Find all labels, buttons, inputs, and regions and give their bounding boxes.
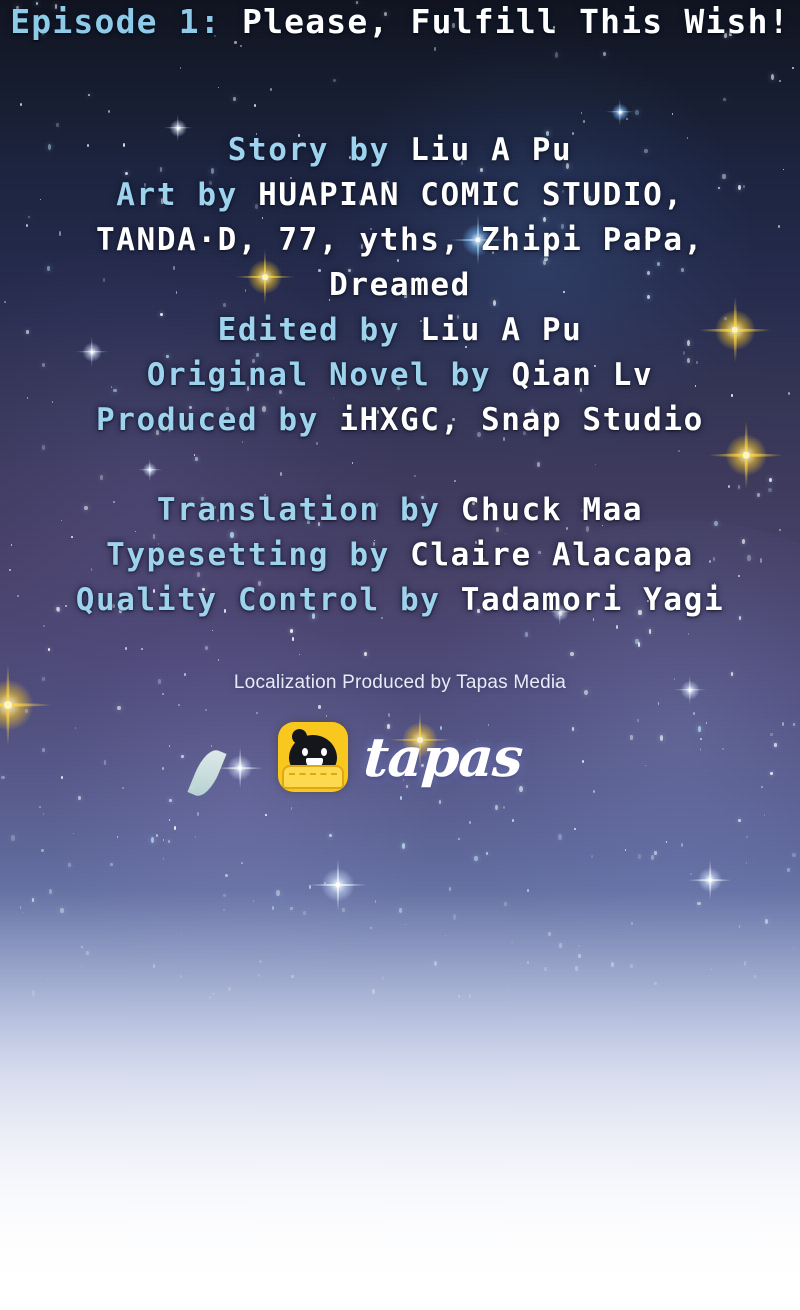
sparkle-core [619, 111, 622, 114]
credit-role: Edited by [218, 312, 421, 348]
star-dot [504, 902, 507, 907]
star-dot [507, 989, 509, 991]
star-dot [110, 863, 113, 866]
star-dot [259, 960, 261, 963]
star-dot [234, 41, 236, 44]
credit-line: Edited by Liu A Pu [0, 308, 800, 353]
credits-spacer [0, 443, 800, 488]
star-dot [635, 639, 638, 644]
star-dot [616, 625, 618, 628]
credits-block: Story by Liu A PuArt by HUAPIAN COMIC ST… [0, 128, 800, 623]
star-dot [445, 935, 446, 936]
star-dot [754, 975, 757, 978]
credit-role: Art by [116, 177, 258, 213]
star-dot [60, 908, 63, 914]
star-dot [555, 52, 558, 58]
star-dot [439, 800, 442, 804]
star-dot [253, 900, 254, 902]
star-dot [240, 45, 242, 47]
credit-value: Liu A Pu [410, 132, 572, 168]
star-dot [527, 889, 529, 892]
star-dot [333, 79, 336, 82]
credit-line: Translation by Chuck Maa [0, 488, 800, 533]
star-dot [578, 945, 580, 947]
star-dot [32, 898, 35, 902]
star-dot [117, 836, 118, 838]
star-dot [290, 907, 293, 910]
star-dot [787, 868, 791, 872]
bottom-fade [0, 890, 800, 1310]
sparkle-ray-vertical [337, 857, 339, 912]
star-dot [625, 849, 626, 851]
star-dot [241, 862, 243, 865]
star-dot [794, 947, 795, 949]
star-dot [723, 98, 726, 101]
star-dot [638, 642, 640, 647]
star-dot [163, 839, 165, 842]
sparkle-star [605, 97, 635, 127]
star-dot [570, 652, 573, 656]
star-dot [583, 120, 585, 123]
credit-role: Typesetting by [106, 537, 410, 573]
star-dot [512, 819, 514, 822]
star-dot [48, 648, 51, 652]
star-dot [205, 709, 207, 712]
star-dot [558, 834, 561, 840]
star-dot [651, 855, 654, 860]
star-dot [303, 911, 306, 915]
star-dot [25, 709, 28, 713]
star-dot [739, 925, 741, 928]
credit-line: Original Novel by Qian Lv [0, 353, 800, 398]
credit-value: Liu A Pu [420, 312, 582, 348]
star-dot [81, 965, 82, 967]
sparkle-core [708, 878, 712, 882]
star-dot [559, 943, 562, 948]
star-dot [765, 919, 768, 924]
star-dot [654, 851, 657, 855]
star-dot [575, 966, 579, 971]
sparkle-ray-horizontal [605, 111, 635, 112]
star-dot [690, 873, 691, 875]
star-dot [681, 843, 683, 847]
star-dot [405, 924, 406, 925]
star-dot [153, 964, 155, 968]
star-dot [324, 882, 326, 885]
star-dot [372, 989, 375, 994]
star-dot [666, 841, 667, 843]
star-dot [258, 974, 260, 976]
star-dot [56, 123, 59, 127]
star-dot [141, 648, 142, 650]
episode-number-label: Episode 1: [10, 2, 221, 41]
star-dot [434, 961, 437, 967]
credit-line: Quality Control by Tadamori Yagi [0, 578, 800, 623]
tapas-bear-icon [278, 722, 348, 792]
star-dot [434, 47, 436, 50]
star-dot [163, 857, 165, 860]
star-dot [11, 835, 15, 841]
star-dot [503, 806, 505, 809]
star-dot [20, 103, 22, 106]
star-dot [299, 654, 300, 656]
credit-role: Quality Control by [76, 582, 461, 618]
star-dot [43, 813, 44, 815]
star-dot [156, 834, 158, 837]
credit-line: TANDA·D, 77, yths, Zhipi PaPa, [0, 218, 800, 263]
star-dot [375, 900, 377, 903]
star-dot [402, 843, 405, 849]
sparkle-star [308, 855, 368, 915]
star-dot [291, 807, 293, 810]
star-dot [209, 996, 211, 999]
star-dot [270, 88, 272, 90]
episode-name-label: Please, Fulfill This Wish! [242, 2, 790, 41]
star-dot [290, 629, 293, 633]
star-dot [611, 962, 614, 967]
bear-blanket [282, 765, 344, 789]
star-dot [223, 894, 226, 897]
star-dot [635, 110, 639, 116]
star-dot [49, 889, 52, 894]
star-dot [47, 978, 48, 980]
star-dot [43, 625, 45, 628]
star-dot [276, 890, 279, 896]
star-dot [581, 112, 582, 114]
star-dot [86, 951, 89, 955]
star-dot [309, 885, 311, 888]
star-dot [453, 914, 456, 920]
sparkle-star [688, 858, 732, 902]
star-dot [223, 909, 225, 911]
credit-line: Story by Liu A Pu [0, 128, 800, 173]
star-dot [117, 706, 120, 710]
star-dot [631, 922, 633, 925]
credit-line: Art by HUAPIAN COMIC STUDIO, [0, 173, 800, 218]
star-dot [205, 646, 208, 649]
credit-role: Produced by [96, 402, 339, 438]
star-dot [41, 849, 43, 853]
credit-value: HUAPIAN COMIC STUDIO, [258, 177, 684, 213]
star-dot [525, 632, 528, 637]
star-dot [181, 932, 182, 935]
star-dot [88, 94, 91, 97]
star-dot [197, 812, 199, 816]
star-dot [511, 941, 513, 943]
bear-eye-right [321, 748, 327, 756]
star-dot [68, 863, 71, 867]
star-dot [697, 902, 700, 905]
credits-group-localization: Translation by Chuck MaaTypesetting by C… [0, 488, 800, 623]
star-dot [272, 906, 274, 910]
star-dot [326, 715, 327, 717]
star-dot [265, 814, 266, 816]
star-dot [672, 113, 673, 115]
credit-value: TANDA·D, 77, yths, Zhipi PaPa, [96, 222, 704, 258]
star-dot [292, 637, 294, 640]
star-dot [548, 932, 551, 937]
star-dot [218, 659, 219, 661]
credit-value: iHXGC, Snap Studio [339, 402, 704, 438]
credit-line: Typesetting by Claire Alacapa [0, 533, 800, 578]
star-dot [195, 836, 196, 838]
star-dot [792, 67, 794, 70]
star-dot [458, 838, 461, 841]
star-dot [792, 853, 796, 857]
star-dot [486, 852, 489, 855]
star-dot [626, 118, 628, 120]
star-dot [81, 946, 83, 948]
sparkle-ray-vertical [709, 860, 711, 900]
tapas-wordmark: tapas [362, 730, 524, 784]
sparkle-ray-horizontal [308, 884, 368, 886]
credit-value: Claire Alacapa [410, 537, 694, 573]
star-dot [630, 964, 633, 968]
star-dot [169, 819, 170, 821]
star-dot [469, 821, 471, 824]
star-dot [228, 987, 231, 991]
star-dot [169, 799, 172, 803]
star-dot [458, 995, 460, 997]
star-dot [544, 967, 548, 971]
star-dot [370, 927, 372, 930]
sparkle-core [4, 701, 12, 709]
star-dot [693, 712, 695, 714]
star-dot [256, 712, 258, 714]
star-dot [744, 961, 747, 966]
star-dot [400, 796, 402, 800]
star-dot [764, 814, 765, 816]
star-dot [212, 630, 213, 631]
star-dot [318, 705, 320, 709]
star-dot [168, 840, 171, 844]
sparkle-core [335, 882, 340, 887]
star-dot [125, 647, 127, 650]
credit-role: Translation by [157, 492, 461, 528]
star-dot [254, 104, 256, 107]
credit-value: Tadamori Yagi [461, 582, 724, 618]
credit-value: Dreamed [329, 267, 471, 303]
star-dot [449, 887, 452, 891]
star-dot [603, 52, 606, 56]
star-dot [399, 908, 402, 913]
star-dot [591, 855, 593, 858]
star-dot [212, 993, 215, 996]
star-dot [527, 961, 529, 964]
credit-line: Produced by iHXGC, Snap Studio [0, 398, 800, 443]
star-dot [574, 828, 575, 830]
credit-role: Story by [228, 132, 410, 168]
star-dot [495, 805, 498, 810]
star-dot [688, 633, 689, 635]
star-dot [39, 806, 41, 808]
star-dot [388, 713, 390, 717]
star-dot [469, 994, 471, 997]
star-dot [180, 975, 182, 978]
sparkle-glow [612, 104, 629, 121]
star-dot [382, 976, 384, 980]
star-dot [638, 854, 641, 860]
star-dot [73, 833, 74, 834]
sparkle-ray-horizontal [0, 703, 53, 706]
credit-line: Dreamed [0, 263, 800, 308]
star-dot [578, 954, 581, 958]
star-dot [738, 819, 741, 823]
star-dot [711, 969, 712, 970]
star-dot [746, 862, 747, 864]
star-dot [233, 97, 236, 102]
credit-value: Qian Lv [511, 357, 653, 393]
star-dot [342, 908, 345, 912]
star-dot [108, 110, 110, 112]
star-dot [20, 906, 22, 909]
star-dot [32, 990, 35, 996]
credit-value: Chuck Maa [461, 492, 643, 528]
star-dot [746, 836, 748, 838]
star-dot [654, 982, 656, 985]
star-dot [364, 652, 367, 657]
star-dot [178, 704, 180, 706]
star-dot [771, 74, 774, 80]
star-dot [658, 702, 660, 705]
credit-role: Original Novel by [147, 357, 512, 393]
star-dot [218, 87, 219, 88]
sparkle-ray-horizontal [688, 879, 732, 881]
comic-credits-page: Episode 1: Please, Fulfill This Wish! St… [0, 0, 800, 1310]
episode-title: Episode 1: Please, Fulfill This Wish! [0, 2, 800, 41]
sparkle-glow [698, 868, 722, 892]
sparkle-ray-vertical [619, 98, 620, 126]
star-dot [474, 856, 477, 862]
star-dot [174, 826, 176, 829]
star-dot [180, 67, 181, 69]
credits-group-production: Story by Liu A PuArt by HUAPIAN COMIC ST… [0, 128, 800, 443]
star-dot [78, 796, 81, 800]
star-dot [23, 912, 24, 914]
star-dot [151, 837, 154, 843]
star-dot [225, 874, 227, 877]
sparkle-glow [322, 869, 355, 902]
star-dot [649, 629, 652, 634]
bear-eye-left [302, 748, 308, 756]
star-dot [291, 975, 294, 978]
tapas-logo[interactable]: tapas [0, 722, 800, 792]
star-dot [779, 80, 780, 82]
star-dot [329, 834, 332, 837]
localization-note: Localization Produced by Tapas Media [0, 672, 800, 694]
